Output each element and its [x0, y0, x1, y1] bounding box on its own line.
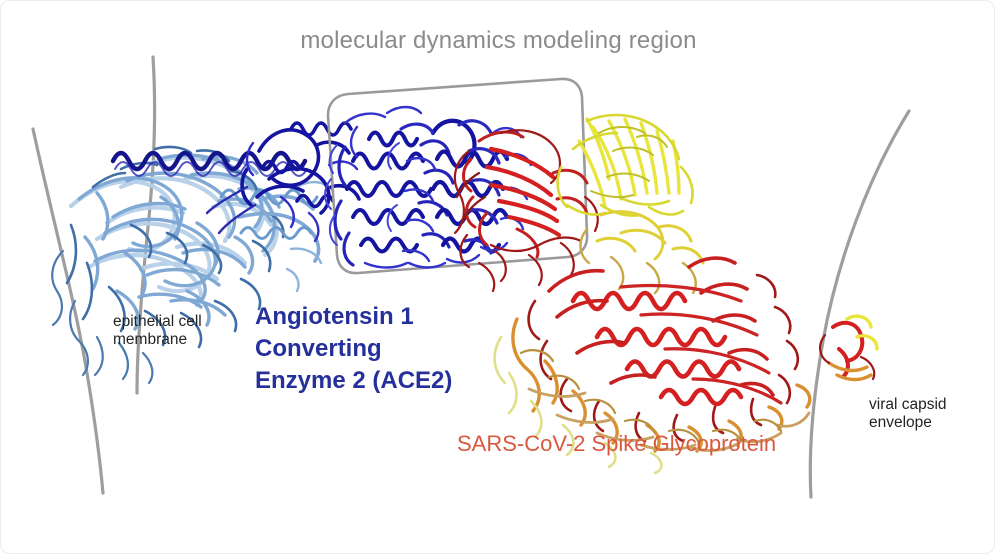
viral-capsid-envelope-label: viral capsid envelope	[869, 396, 947, 433]
envelope-line	[810, 111, 909, 497]
molecular-structure-scene	[1, 1, 995, 554]
spike-trimer-red-core	[529, 258, 798, 441]
spike-glycoprotein-label: SARS-CoV-2 Spike Glycoprotein	[457, 431, 776, 457]
ace2-label: Angiotensin 1 Converting Enzyme 2 (ACE2)	[255, 301, 452, 397]
epithelial-cell-membrane-label: epithelial cell membrane	[113, 313, 202, 350]
viral-capsid-envelope-line	[810, 111, 909, 497]
molecular-dynamics-figure: molecular dynamics modeling region epith…	[0, 0, 995, 554]
page-title: molecular dynamics modeling region	[1, 27, 995, 55]
membrane-line-outer	[33, 129, 103, 493]
spike-stalk-fragment	[820, 316, 877, 379]
